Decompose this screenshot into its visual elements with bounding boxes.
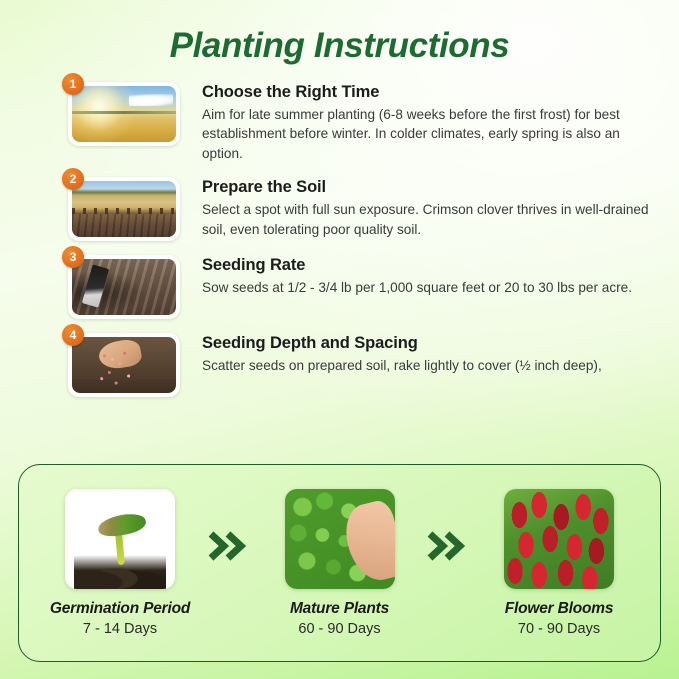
timeline-stage-germination: Germination Period 7 - 14 Days (45, 489, 195, 637)
crimson-clover-flowers-thumbnail (504, 489, 614, 589)
step-thumbnail-frame (68, 333, 180, 397)
page-title: Planting Instructions (0, 26, 679, 66)
timeline-stage-days: 7 - 14 Days (83, 621, 157, 637)
step-text-block: Choose the Right Time Aim for late summe… (202, 82, 663, 163)
green-clover-leaves-thumbnail (285, 489, 395, 589)
double-chevron-right-icon (207, 529, 253, 563)
plowed-field-icon (72, 181, 176, 237)
timeline-stage-days: 70 - 90 Days (518, 621, 600, 637)
step-item: 2 Prepare the Soil Select a spot with fu… (68, 177, 663, 241)
step-body: Aim for late summer planting (6-8 weeks … (202, 105, 663, 163)
hand-tool-tilling-soil-thumbnail (72, 259, 176, 315)
step-title: Seeding Depth and Spacing (202, 334, 663, 353)
step-body: Scatter seeds on prepared soil, rake lig… (202, 356, 663, 375)
step-thumbnail-frame (68, 177, 180, 241)
step-thumbnail-holder: 3 (68, 255, 180, 319)
sprout-icon (65, 489, 175, 589)
timeline-stage-mature-plants: Mature Plants 60 - 90 Days (265, 489, 415, 637)
step-text-block: Seeding Rate Sow seeds at 1/2 - 3/4 lb p… (202, 255, 663, 297)
timeline-stage-label: Flower Blooms (505, 600, 614, 618)
seedling-sprout-thumbnail (65, 489, 175, 589)
step-thumbnail-frame (68, 255, 180, 319)
wheat-field-at-sunset-thumbnail (72, 86, 176, 142)
page-header: Planting Instructions (0, 0, 679, 66)
sprout-leaf-icon (97, 512, 148, 539)
planting-steps-list: 1 Choose the Right Time Aim for late sum… (0, 82, 679, 397)
clover-leaves-icon (285, 489, 395, 589)
step-text-block: Prepare the Soil Select a spot with full… (202, 177, 663, 239)
scattering-seeds-icon (72, 337, 176, 393)
step-number-badge: 1 (62, 73, 84, 95)
timeline-stage-label: Germination Period (50, 600, 190, 618)
step-item: 3 Seeding Rate Sow seeds at 1/2 - 3/4 lb… (68, 255, 663, 319)
timeline-stage-days: 60 - 90 Days (298, 621, 380, 637)
step-text-block: Seeding Depth and Spacing Scatter seeds … (202, 333, 663, 375)
step-thumbnail-holder: 1 (68, 82, 180, 146)
step-title: Seeding Rate (202, 256, 663, 275)
timeline-stage-flower-blooms: Flower Blooms 70 - 90 Days (484, 489, 634, 637)
step-item: 4 Seeding Depth and Spacing Scatter seed… (68, 333, 663, 397)
step-body: Select a spot with full sun exposure. Cr… (202, 200, 663, 239)
step-thumbnail-holder: 4 (68, 333, 180, 397)
step-thumbnail-frame (68, 82, 180, 146)
hand-scattering-seeds-thumbnail (72, 337, 176, 393)
double-chevron-right-icon (426, 529, 472, 563)
plowed-field-with-hay-bales-thumbnail (72, 181, 176, 237)
crimson-flowers-icon (504, 489, 614, 589)
tilling-soil-icon (72, 259, 176, 315)
wheat-field-icon (72, 86, 176, 142)
step-item: 1 Choose the Right Time Aim for late sum… (68, 82, 663, 163)
step-title: Choose the Right Time (202, 83, 663, 102)
step-thumbnail-holder: 2 (68, 177, 180, 241)
timeline-stage-label: Mature Plants (290, 600, 389, 618)
growth-timeline-panel: Germination Period 7 - 14 Days Mature Pl… (18, 464, 661, 662)
step-title: Prepare the Soil (202, 178, 663, 197)
step-body: Sow seeds at 1/2 - 3/4 lb per 1,000 squa… (202, 278, 663, 297)
